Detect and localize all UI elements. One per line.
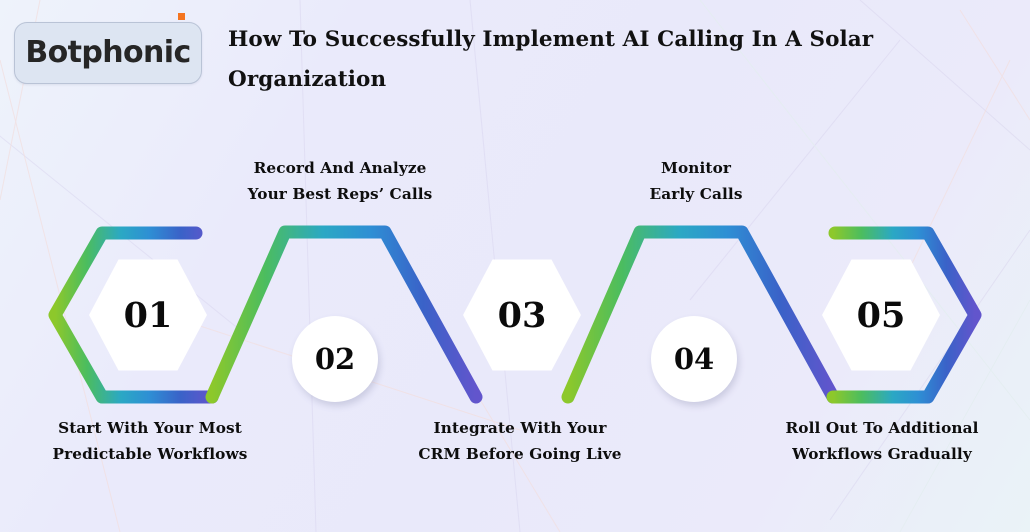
step-label-01-line-2: Predictable Workflows xyxy=(38,442,262,468)
step-marker-04[interactable]: 04 xyxy=(651,316,737,402)
logo-badge[interactable]: Botphonic xyxy=(14,22,202,84)
step-marker-03[interactable]: 03 xyxy=(463,256,581,374)
step-label-04-line-2: Early Calls xyxy=(584,182,808,208)
step-label-04-line-1: Monitor xyxy=(584,156,808,182)
step-number-01: 01 xyxy=(124,295,173,336)
step-number-03: 03 xyxy=(498,295,547,336)
page-title-line-1: How To Successfully Implement AI Calling… xyxy=(228,27,873,52)
page-title-line-2: Organization xyxy=(228,67,386,92)
step-label-05-line-2: Workflows Gradually xyxy=(770,442,994,468)
step-label-02-line-1: Record And Analyze xyxy=(228,156,452,182)
step-label-05: Roll Out To Additional Workflows Gradual… xyxy=(770,416,994,467)
step-number-02: 02 xyxy=(315,342,355,376)
header: Botphonic How To Successfully Implement … xyxy=(0,0,1030,110)
step-number-05: 05 xyxy=(857,295,906,336)
page-title: How To Successfully Implement AI Calling… xyxy=(228,20,1018,100)
step-label-03-line-2: CRM Before Going Live xyxy=(408,442,632,468)
step-marker-05[interactable]: 05 xyxy=(822,256,940,374)
step-label-02: Record And Analyze Your Best Reps’ Calls xyxy=(228,156,452,207)
step-label-04: Monitor Early Calls xyxy=(584,156,808,207)
step-label-03: Integrate With Your CRM Before Going Liv… xyxy=(408,416,632,467)
step-label-05-line-1: Roll Out To Additional xyxy=(770,416,994,442)
step-label-01: Start With Your Most Predictable Workflo… xyxy=(38,416,262,467)
step-label-03-line-1: Integrate With Your xyxy=(408,416,632,442)
step-label-02-line-2: Your Best Reps’ Calls xyxy=(228,182,452,208)
step-label-01-line-1: Start With Your Most xyxy=(38,416,262,442)
step-marker-01[interactable]: 01 xyxy=(89,256,207,374)
step-marker-02[interactable]: 02 xyxy=(292,316,378,402)
step-number-04: 04 xyxy=(674,342,714,376)
logo-text: Botphonic xyxy=(25,38,190,68)
logo-accent-dot-icon xyxy=(178,13,185,20)
